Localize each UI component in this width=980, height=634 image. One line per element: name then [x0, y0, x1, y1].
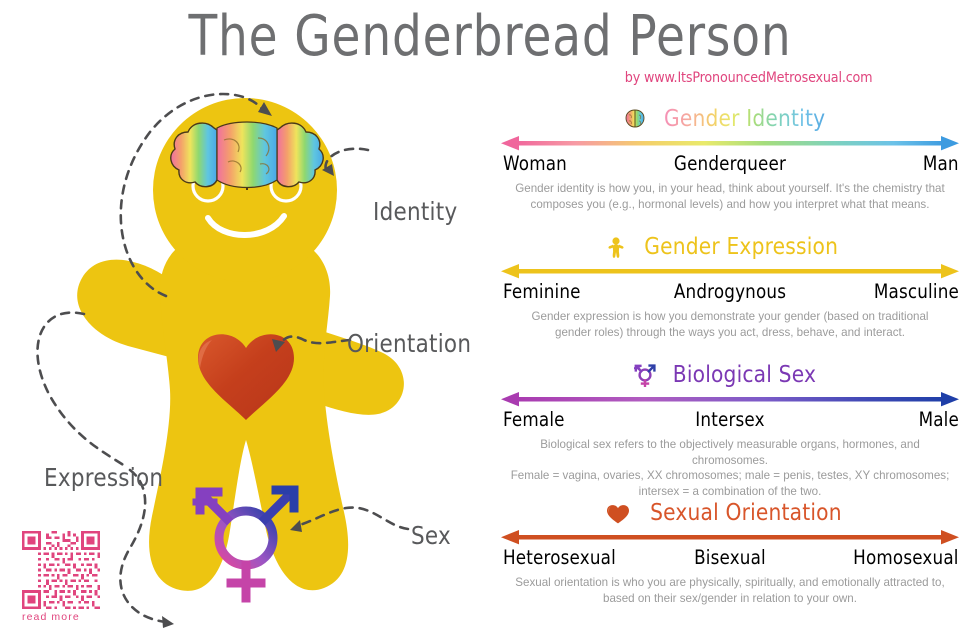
section-header-biological-sex: Biological Sex — [495, 360, 965, 390]
figure-label-identity: Identity — [373, 197, 457, 226]
section-header-gender-identity: Gender Identity — [495, 104, 965, 134]
transgender-symbol-icon — [634, 363, 656, 387]
qr-code-block[interactable]: read more — [22, 531, 100, 623]
pole-left: Female — [503, 408, 565, 431]
description-line: intersex = a combination of the two. — [507, 484, 953, 500]
section-biological-sex: Biological Sex — [495, 360, 965, 498]
pole-middle: Intersex — [695, 408, 764, 431]
spectrum-axis-sexual-orientation — [495, 529, 965, 545]
pole-right: Homosexual — [854, 546, 959, 569]
spectrum-poles-gender-expression: Feminine Androgynous Masculine — [495, 280, 965, 304]
qr-code-icon[interactable] — [22, 531, 100, 609]
pole-middle: Bisexual — [694, 546, 766, 569]
qr-caption: read more — [22, 611, 100, 623]
figure-label-orientation: Orientation — [347, 329, 471, 358]
section-title: Biological Sex — [673, 362, 816, 388]
spectrum-axis-gender-expression — [495, 263, 965, 279]
section-title: Sexual Orientation — [650, 500, 842, 526]
pole-left: Feminine — [503, 280, 581, 303]
section-header-gender-expression: Gender Expression — [495, 232, 965, 262]
spectrum-axis-biological-sex — [495, 391, 965, 407]
pole-middle: Androgynous — [674, 280, 786, 303]
section-gender-expression: Gender Expression Feminine Androgynous M… — [495, 232, 965, 360]
page-title: The Genderbread Person — [78, 4, 901, 70]
gingerbread-person-icon — [608, 237, 624, 258]
spectrum-poles-gender-identity: Woman Genderqueer Man — [495, 152, 965, 176]
description-line: Biological sex refers to the objectively… — [507, 437, 953, 468]
pole-right: Male — [919, 408, 959, 431]
description-line: gender roles) through the ways you act, … — [507, 325, 953, 341]
spectrum-sections: Gender Identity — [495, 104, 965, 618]
section-sexual-orientation: Sexual Orientation Heterosexual Bisexual… — [495, 498, 965, 618]
description-line: Gender identity is how you, in your head… — [507, 181, 953, 197]
description-line: Female = vagina, ovaries, XX chromosomes… — [507, 468, 953, 484]
section-description: Sexual orientation is who you are physic… — [495, 575, 965, 606]
pole-right: Masculine — [874, 280, 959, 303]
brain-icon — [624, 109, 646, 129]
section-title: Gender Identity — [664, 106, 825, 132]
section-header-sexual-orientation: Sexual Orientation — [495, 498, 965, 528]
brain-icon — [171, 122, 323, 190]
pole-middle: Genderqueer — [674, 152, 786, 175]
section-description: Gender expression is how you demonstrate… — [495, 309, 965, 340]
pole-left: Woman — [503, 152, 567, 175]
description-line: Gender expression is how you demonstrate… — [507, 309, 953, 325]
heart-icon — [606, 503, 630, 524]
pole-right: Man — [923, 152, 959, 175]
arrowhead-expression-lower — [162, 616, 174, 628]
spectrum-poles-biological-sex: Female Intersex Male — [495, 408, 965, 432]
section-description: Biological sex refers to the objectively… — [495, 437, 965, 499]
description-line: Sexual orientation is who you are physic… — [507, 575, 953, 591]
pole-left: Heterosexual — [503, 546, 616, 569]
page-subtitle: by www.ItsPronouncedMetrosexual.com — [624, 70, 872, 86]
spectrum-axis-gender-identity — [495, 135, 965, 151]
section-title: Gender Expression — [645, 234, 839, 260]
figure-label-sex: Sex — [411, 521, 451, 550]
infographic-root: The Genderbread Person by www.ItsPronoun… — [0, 0, 980, 634]
spectrum-poles-sexual-orientation: Heterosexual Bisexual Homosexual — [495, 546, 965, 570]
section-gender-identity: Gender Identity — [495, 104, 965, 232]
description-line: based on their sex/gender in relation to… — [507, 591, 953, 607]
section-description: Gender identity is how you, in your head… — [495, 181, 965, 212]
figure-label-expression: Expression — [44, 463, 163, 492]
description-line: composes you (e.g., hormonal levels) and… — [507, 197, 953, 213]
